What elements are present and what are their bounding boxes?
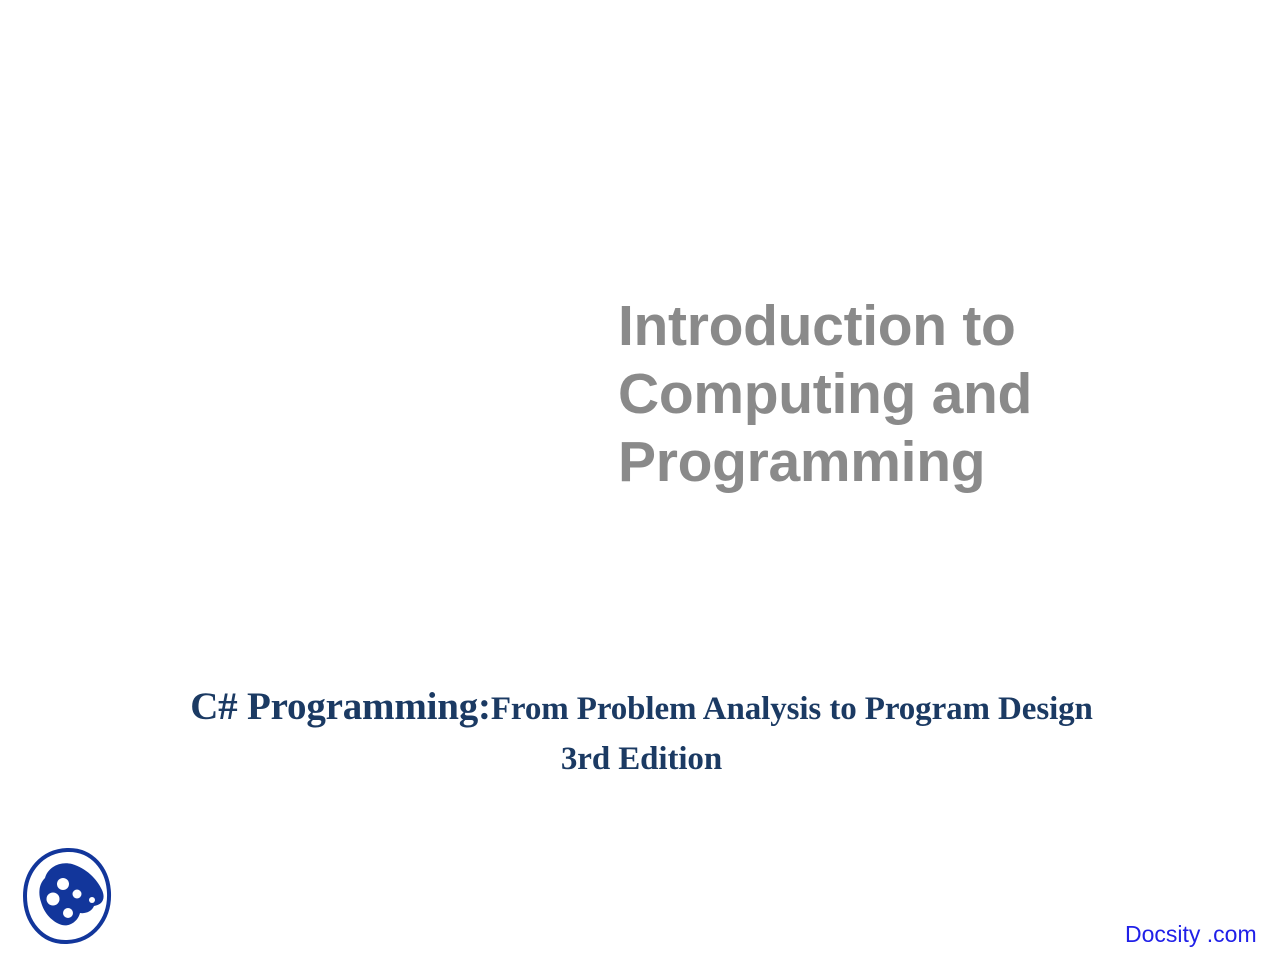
- slide-title: Introduction to Computing and Programmin…: [618, 292, 1058, 496]
- title-line-3: Programming: [618, 428, 1058, 496]
- title-line-1: Introduction to: [618, 292, 1058, 360]
- book-edition: 3rd Edition: [60, 737, 1223, 782]
- docsity-logo-icon: [20, 845, 116, 950]
- book-subtitle: From Problem Analysis to Program Design: [491, 691, 1093, 727]
- presentation-slide: Introduction to Computing and Programmin…: [0, 0, 1280, 960]
- book-title: C# Programming:: [190, 685, 491, 728]
- docsity-wordmark: Docsity .com: [1125, 921, 1257, 948]
- title-line-2: Computing and: [618, 360, 1058, 428]
- slide-subtitle: C# Programming:From Problem Analysis to …: [60, 684, 1223, 782]
